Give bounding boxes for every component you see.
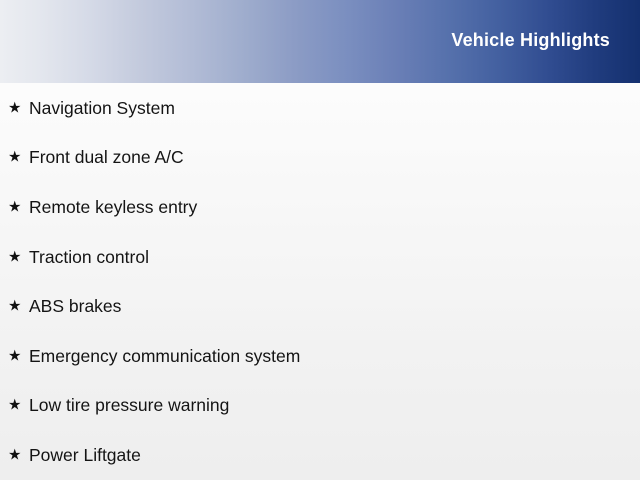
- list-item: ★ Front dual zone A/C: [0, 133, 640, 183]
- list-item: ★ Navigation System: [0, 83, 640, 133]
- star-bullet-icon: ★: [8, 150, 22, 165]
- list-item: ★ ABS brakes: [0, 281, 640, 331]
- star-bullet-icon: ★: [8, 199, 22, 214]
- star-bullet-icon: ★: [8, 348, 22, 363]
- star-bullet-icon: ★: [8, 398, 22, 413]
- list-item: ★ Emergency communication system: [0, 331, 640, 381]
- list-item-label: ABS brakes: [29, 295, 121, 317]
- page-title: Vehicle Highlights: [451, 29, 610, 51]
- list-item: ★ Traction control: [0, 232, 640, 282]
- star-bullet-icon: ★: [8, 249, 22, 264]
- list-item-label: Power Liftgate: [29, 444, 141, 466]
- vehicle-highlights-slide: Vehicle Highlights ★ Navigation System ★…: [0, 0, 640, 480]
- list-item-label: Front dual zone A/C: [29, 146, 184, 168]
- star-bullet-icon: ★: [8, 447, 22, 462]
- star-bullet-icon: ★: [8, 299, 22, 314]
- list-item-label: Low tire pressure warning: [29, 394, 229, 416]
- list-item-label: Remote keyless entry: [29, 196, 197, 218]
- vehicle-highlights-list: ★ Navigation System ★ Front dual zone A/…: [0, 83, 640, 480]
- list-item: ★ Remote keyless entry: [0, 182, 640, 232]
- star-bullet-icon: ★: [8, 100, 22, 115]
- list-item: ★ Low tire pressure warning: [0, 381, 640, 431]
- list-item-label: Emergency communication system: [29, 345, 300, 367]
- header-banner: Vehicle Highlights: [0, 0, 640, 83]
- list-item: ★ Power Liftgate: [0, 430, 640, 480]
- list-item-label: Navigation System: [29, 97, 175, 119]
- list-item-label: Traction control: [29, 246, 149, 268]
